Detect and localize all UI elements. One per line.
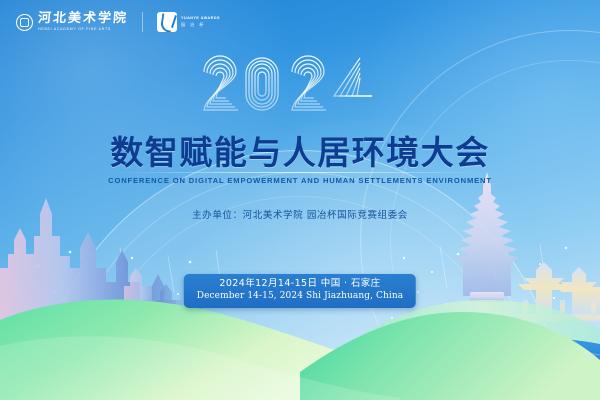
logo-divider: [142, 12, 143, 32]
date-line-en: December 14-15, 2024 Shi Jiazhuang, Chin…: [197, 291, 403, 303]
logo-hebei-name-cn: 河北美术学院: [38, 12, 129, 25]
year-graphic: [0, 54, 600, 116]
hebei-seal-icon: [16, 14, 33, 31]
date-line-cn: 2024年12月14-15日 中国 · 石家庄: [197, 278, 403, 291]
header-logo-bar: 河北美术学院 HEBEI ACADEMY OF FINE ARTS YUANYE…: [16, 12, 220, 32]
logo-yuanye-awards[interactable]: YUANYE AWARDS 园 冶 杯: [157, 12, 220, 32]
yuanye-awards-mark-icon: [157, 12, 177, 32]
conference-poster: 河北美术学院 HEBEI ACADEMY OF FINE ARTS YUANYE…: [0, 0, 600, 400]
page-title: 数智赋能与人居环境大会: [0, 126, 600, 174]
logo-hebei-name-en: HEBEI ACADEMY OF FINE ARTS: [38, 28, 128, 32]
logo-hebei-academy[interactable]: 河北美术学院 HEBEI ACADEMY OF FINE ARTS: [16, 12, 128, 32]
logo-yuanye-name-cn: 园 冶 杯: [181, 23, 220, 27]
page-subtitle: CONFERENCE ON DIGITAL EMPOWERMENT AND HU…: [0, 176, 600, 185]
organizer-line: 主办单位：河北美术学院 园冶杯国际竞赛组委会: [0, 207, 600, 221]
date-location-badge: 2024年12月14-15日 中国 · 石家庄 December 14-15, …: [184, 274, 416, 308]
logo-yuanye-name-en: YUANYE AWARDS: [181, 17, 220, 21]
